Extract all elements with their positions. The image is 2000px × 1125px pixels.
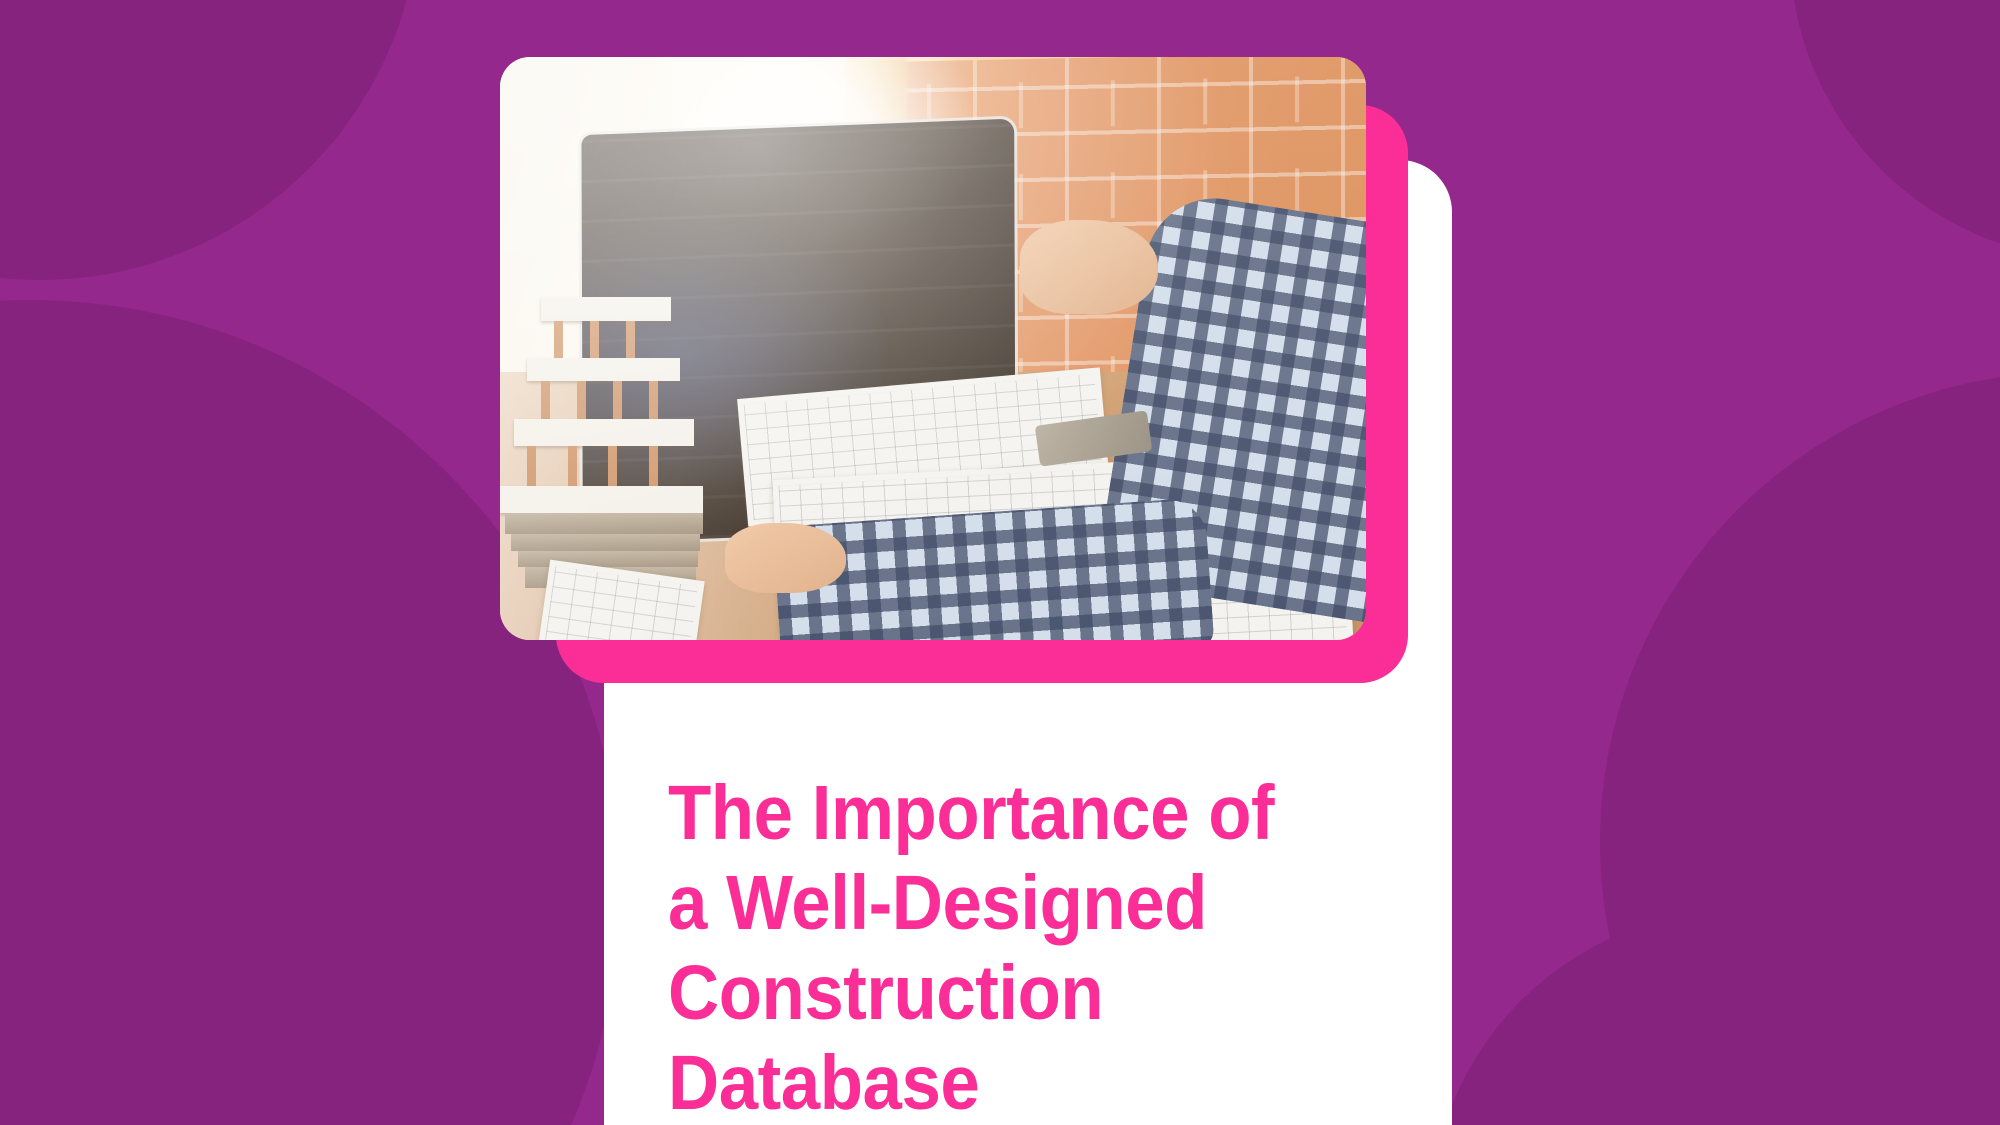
photo-color-grade: [500, 57, 1366, 640]
hero-graphic: The Importance of a Well-Designed Constr…: [0, 0, 2000, 1125]
hero-photo: [500, 57, 1366, 640]
page-title: The Importance of a Well-Designed Constr…: [668, 768, 1312, 1125]
